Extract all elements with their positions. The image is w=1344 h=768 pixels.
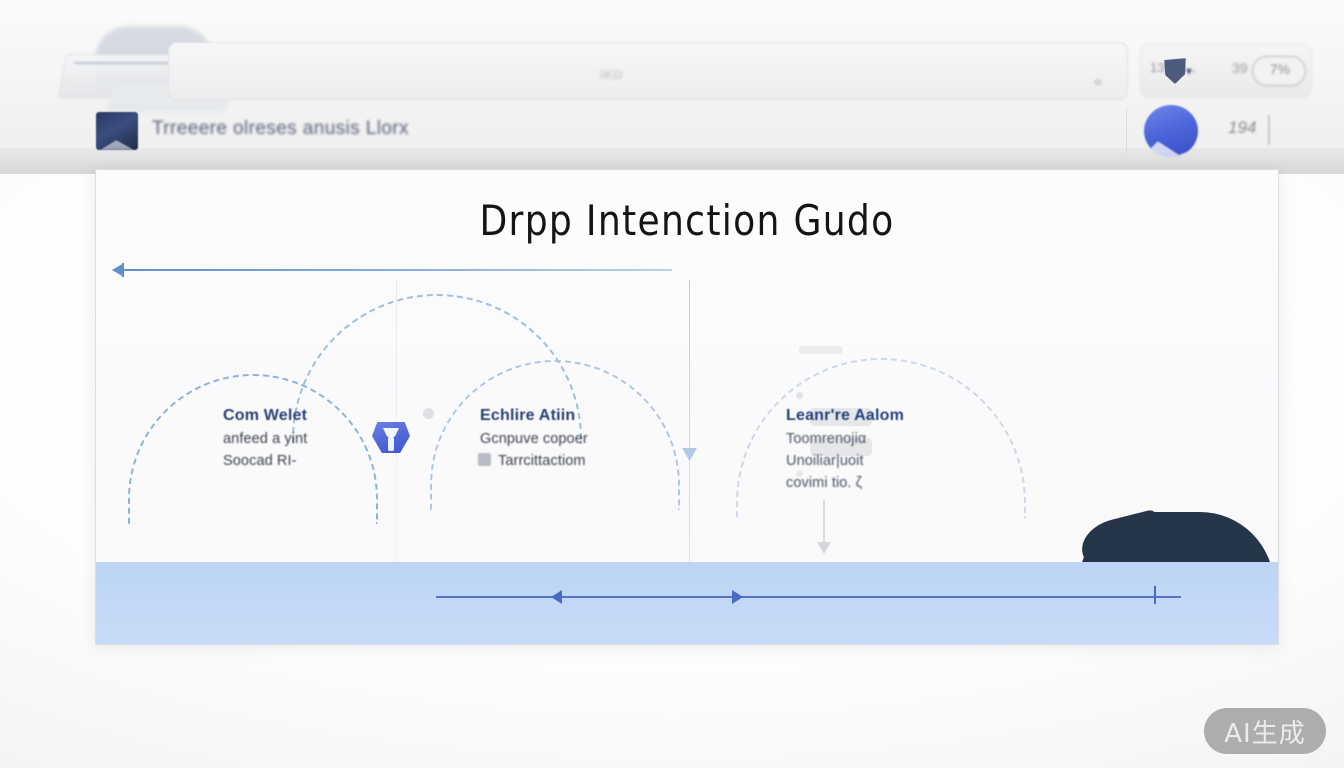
arrow-right-icon	[732, 590, 743, 604]
bookmark-title[interactable]: Trreeere olreses anusis Llorx	[152, 118, 409, 140]
block-line: Unoiliar|uoit	[786, 453, 904, 469]
block-line: Toomrenojiα	[786, 431, 904, 447]
slide-card: Drpp Intenction Gudo Com Welet anfeed a	[96, 170, 1278, 644]
block-line: anfeed a yint	[223, 431, 307, 447]
arrow-down-icon	[682, 448, 697, 461]
timeline-end-tick	[1154, 586, 1156, 604]
chevron-down-icon[interactable]: ▾·	[1186, 64, 1196, 78]
timeline-line	[436, 596, 1181, 598]
zoom-pill-value: 7%	[1258, 61, 1302, 77]
block-line: covimi tio. ζ	[786, 475, 904, 491]
content-block-3: Leanr're Aalom Toomrenojiα Unoiliar|uoit…	[786, 407, 904, 491]
toolbar-divider	[1126, 108, 1127, 154]
profile-count: 194	[1228, 118, 1256, 138]
timeline-band	[96, 562, 1278, 644]
profile-count-divider	[1268, 115, 1270, 145]
lightbulb-icon	[372, 419, 410, 456]
flow-arrow-stem	[823, 500, 825, 546]
arrow-left-icon	[551, 590, 562, 604]
placeholder-chip	[799, 346, 843, 354]
content-block-2: Echlire Atiin Gcnpuve copoer Tarrcittact…	[480, 407, 588, 469]
block-line: Soocad RI-	[223, 453, 307, 469]
square-glyph-icon	[478, 453, 491, 466]
tab-icon-line	[74, 62, 182, 64]
title-underline-tick	[122, 263, 124, 277]
toolbar-badge-left: 13	[1150, 60, 1164, 75]
screenshot-root: IKD « 13 ▾· 39 7% Trreeere olreses anusi…	[0, 0, 1344, 768]
arrow-down-icon	[817, 542, 831, 554]
page-title: Drpp Intenction Gudo	[179, 196, 1196, 245]
block-heading: Leanr're Aalom	[786, 407, 904, 425]
title-underline	[116, 269, 672, 271]
ai-generated-watermark: AI生成	[1204, 708, 1326, 754]
favicon-icon	[96, 112, 138, 150]
address-bar-caret-icon[interactable]: «	[1094, 73, 1102, 90]
avatar[interactable]	[1144, 105, 1198, 157]
block-line: Tarrcittactiom	[480, 453, 588, 469]
block-heading: Com Welet	[223, 407, 307, 425]
placeholder-dot	[796, 392, 803, 399]
address-bar-value: IKD	[600, 68, 720, 82]
watermark-label: AI生成	[1224, 713, 1305, 750]
content-block-1: Com Welet anfeed a yint Soocad RI-	[223, 407, 307, 469]
placeholder-dot	[423, 408, 434, 419]
block-line: Gcnpuve copoer	[480, 431, 588, 447]
lightbulb-base	[388, 438, 394, 451]
toolbar-badge-right: 39	[1232, 60, 1248, 76]
block-heading: Echlire Atiin	[480, 407, 588, 425]
